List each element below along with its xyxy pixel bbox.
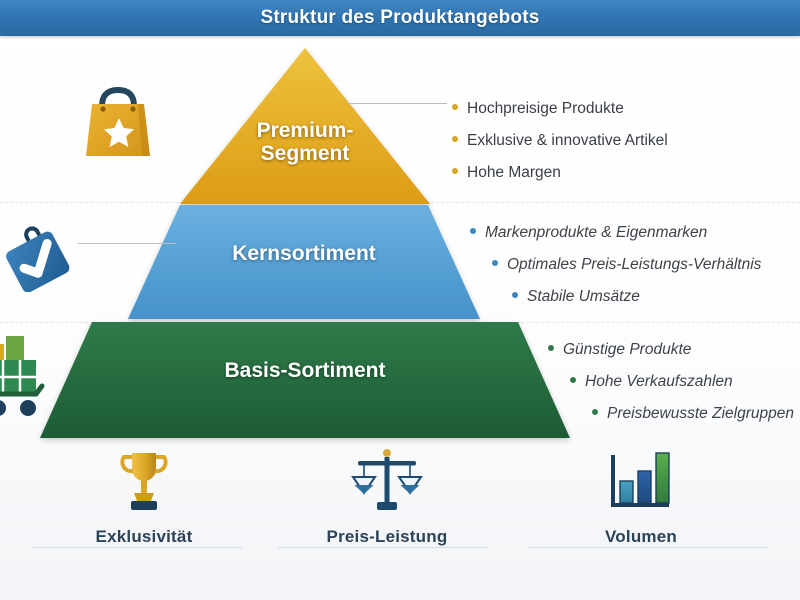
bullet-text: Exklusive & innovative Artikel bbox=[467, 132, 668, 150]
pyramid-tier-kernsortiment[interactable]: Kernsortiment bbox=[128, 205, 480, 319]
bullet-text: Stabile Umsätze bbox=[527, 288, 640, 306]
premium-label-line1: Premium- bbox=[180, 120, 430, 143]
bar-chart-icon bbox=[541, 445, 741, 515]
bullet-dot-icon bbox=[512, 292, 518, 298]
footer-item-volumen[interactable]: Volumen bbox=[541, 445, 741, 547]
bullets-basis: Günstige Produkte Hohe Verkaufszahlen Pr… bbox=[548, 341, 794, 437]
bullet-text: Hohe Margen bbox=[467, 164, 561, 182]
bullet-dot-icon bbox=[452, 136, 458, 142]
shopping-bag-star-icon bbox=[76, 78, 160, 164]
bullets-premium: Hochpreisige Produkte Exklusive & innova… bbox=[452, 100, 668, 196]
bullet-text: Hohe Verkaufszahlen bbox=[585, 373, 733, 391]
bullet-item: Stabile Umsätze bbox=[512, 288, 761, 306]
pyramid-tier-basis[interactable]: Basis-Sortiment bbox=[40, 322, 570, 438]
bullet-dot-icon bbox=[592, 409, 598, 415]
footer-rule-left bbox=[32, 547, 242, 548]
pyramid-tier-kernsortiment-label: Kernsortiment bbox=[128, 243, 480, 266]
bullet-text: Preisbewusste Zielgruppen bbox=[607, 405, 794, 423]
connector-kern-left bbox=[78, 243, 176, 244]
footer-rule-center bbox=[278, 547, 488, 548]
footer-item-preis-leistung[interactable]: Preis-Leistung bbox=[287, 445, 487, 547]
bullet-dot-icon bbox=[452, 104, 458, 110]
footer-item-exklusivitaet[interactable]: Exklusivität bbox=[44, 445, 244, 547]
bullet-text: Günstige Produkte bbox=[563, 341, 691, 359]
bullet-dot-icon bbox=[492, 260, 498, 266]
bullet-item: Preisbewusste Zielgruppen bbox=[592, 405, 794, 423]
bullet-item: Hohe Margen bbox=[452, 164, 668, 182]
pyramid-tier-premium[interactable]: Premium- Segment bbox=[180, 48, 430, 204]
price-tag-check-icon bbox=[6, 222, 80, 292]
bullet-item: Günstige Produkte bbox=[548, 341, 794, 359]
trophy-icon bbox=[44, 445, 244, 515]
pyramid-tier-premium-label: Premium- Segment bbox=[180, 120, 430, 165]
bullets-kernsortiment: Markenprodukte & Eigenmarken Optimales P… bbox=[470, 224, 761, 320]
pyramid-tier-basis-label: Basis-Sortiment bbox=[40, 360, 570, 383]
footer-label: Preis-Leistung bbox=[287, 527, 487, 547]
connector-premium-right bbox=[347, 103, 447, 104]
bullet-text: Markenprodukte & Eigenmarken bbox=[485, 224, 707, 242]
bullet-item: Markenprodukte & Eigenmarken bbox=[470, 224, 761, 242]
footer-label: Volumen bbox=[541, 527, 741, 547]
bullet-text: Hochpreisige Produkte bbox=[467, 100, 624, 118]
shopping-cart-green-icon bbox=[0, 330, 62, 422]
bullet-dot-icon bbox=[470, 228, 476, 234]
bullet-item: Optimales Preis-Leistungs-Verhältnis bbox=[492, 256, 761, 274]
bullet-dot-icon bbox=[570, 377, 576, 383]
bullet-text: Optimales Preis-Leistungs-Verhältnis bbox=[507, 256, 761, 274]
premium-label-line2: Segment bbox=[180, 143, 430, 166]
footer-rule-right bbox=[528, 547, 768, 548]
bullet-item: Hohe Verkaufszahlen bbox=[570, 373, 794, 391]
bullet-dot-icon bbox=[452, 168, 458, 174]
bullet-item: Exklusive & innovative Artikel bbox=[452, 132, 668, 150]
bullet-item: Hochpreisige Produkte bbox=[452, 100, 668, 118]
footer-label: Exklusivität bbox=[44, 527, 244, 547]
bullet-dot-icon bbox=[548, 345, 554, 351]
diagram-canvas: Struktur des Produktangebots Premium- Se… bbox=[0, 0, 800, 600]
balance-scale-icon bbox=[287, 445, 487, 515]
